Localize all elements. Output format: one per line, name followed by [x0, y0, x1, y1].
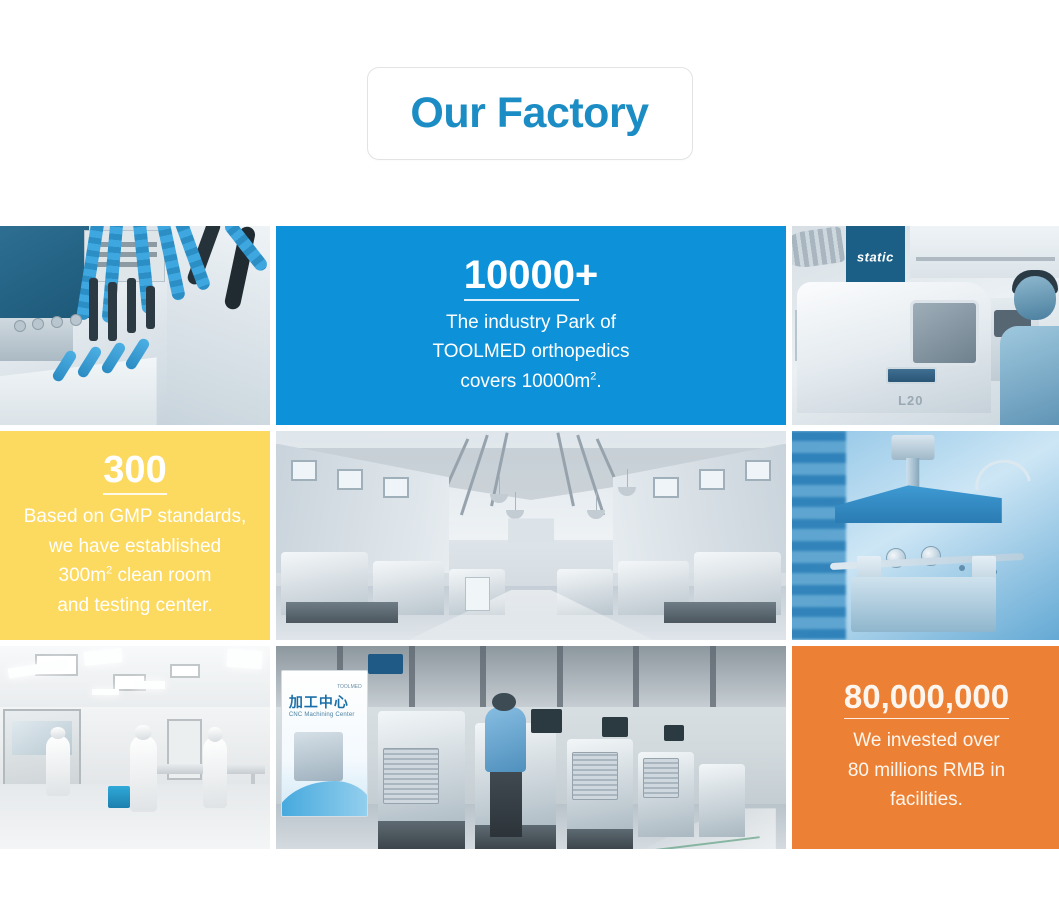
gallery-cell-testing-rig[interactable] — [792, 431, 1059, 640]
banner-title-cn: 加工中心 — [289, 692, 349, 712]
gallery-cell-clean-room[interactable] — [0, 646, 270, 849]
stat-line-4: and testing center. — [24, 591, 247, 621]
gallery-cell-machining-shop[interactable]: TOOLMED 加工中心 CNC Machining Center — [276, 646, 786, 849]
stat-line-1: We invested over — [848, 726, 1005, 756]
gallery-cell-cnc-nozzles[interactable] — [0, 226, 270, 425]
stat-description-clean-room: Based on GMP standards, we have establis… — [24, 502, 247, 621]
stat-description-industry-park: The industry Park of TOOLMED orthopedics… — [432, 308, 629, 397]
stat-line-1: Based on GMP standards, — [24, 502, 247, 532]
stat-number-value: 10000+ — [464, 253, 599, 297]
stat-underline — [103, 493, 166, 495]
stat-line-3: 300m2 clean room — [24, 561, 247, 591]
machine-brand-label: static — [857, 250, 894, 265]
stat-description-investment: We invested over 80 millions RMB in faci… — [848, 726, 1005, 815]
our-factory-page: Our Factory — [0, 0, 1059, 905]
photo-machining-center-shop-banner: TOOLMED 加工中心 CNC Machining Center — [276, 646, 786, 849]
stat-panel-industry-park: 10000+ The industry Park of TOOLMED orth… — [276, 226, 786, 425]
stat-line-1: The industry Park of — [432, 308, 629, 338]
photo-clean-room-workers — [0, 646, 270, 849]
stat-number-80000000: 80,000,000 — [844, 680, 1009, 723]
stat-underline — [844, 718, 1009, 720]
photo-factory-hall-cnc-rows — [276, 431, 786, 640]
factory-gallery-grid: 10000+ The industry Park of TOOLMED orth… — [0, 226, 1059, 853]
clean-room-worker — [130, 735, 157, 812]
stat-number-10000: 10000+ — [464, 254, 599, 305]
clean-room-worker — [203, 737, 227, 808]
stat-line-2: TOOLMED orthopedics — [432, 337, 629, 367]
page-header: Our Factory — [0, 0, 1059, 226]
stat-underline — [464, 299, 580, 301]
stat-number-value: 300 — [103, 449, 166, 491]
gallery-cell-cnc-lathe[interactable]: static L20 — [792, 226, 1059, 425]
stat-number-300: 300 — [103, 451, 166, 499]
stat-number-value: 80,000,000 — [844, 678, 1009, 715]
page-title-box: Our Factory — [367, 67, 693, 160]
page-title: Our Factory — [410, 92, 648, 135]
stat-line-2: we have established — [24, 532, 247, 562]
stat-panel-clean-room: 300 Based on GMP standards, we have esta… — [0, 431, 270, 640]
gallery-cell-factory-hall[interactable] — [276, 431, 786, 640]
stat-line-3: facilities. — [848, 785, 1005, 815]
machine-model-label: L20 — [898, 393, 923, 408]
banner-brand-label: TOOLMED — [337, 684, 362, 691]
cnc-machining-center-banner: TOOLMED 加工中心 CNC Machining Center — [281, 670, 368, 816]
stat-panel-investment: 80,000,000 We invested over 80 millions … — [792, 646, 1059, 849]
clean-room-worker — [46, 735, 70, 796]
photo-cnc-lathe-static-operator: static L20 — [792, 226, 1059, 425]
banner-title-en: CNC Machining Center — [289, 712, 355, 718]
photo-mechanical-testing-implant-plate — [792, 431, 1059, 640]
photo-cnc-coolant-nozzles-closeup — [0, 226, 270, 425]
stat-line-2: 80 millions RMB in — [848, 756, 1005, 786]
stat-line-3: covers 10000m2. — [432, 367, 629, 397]
